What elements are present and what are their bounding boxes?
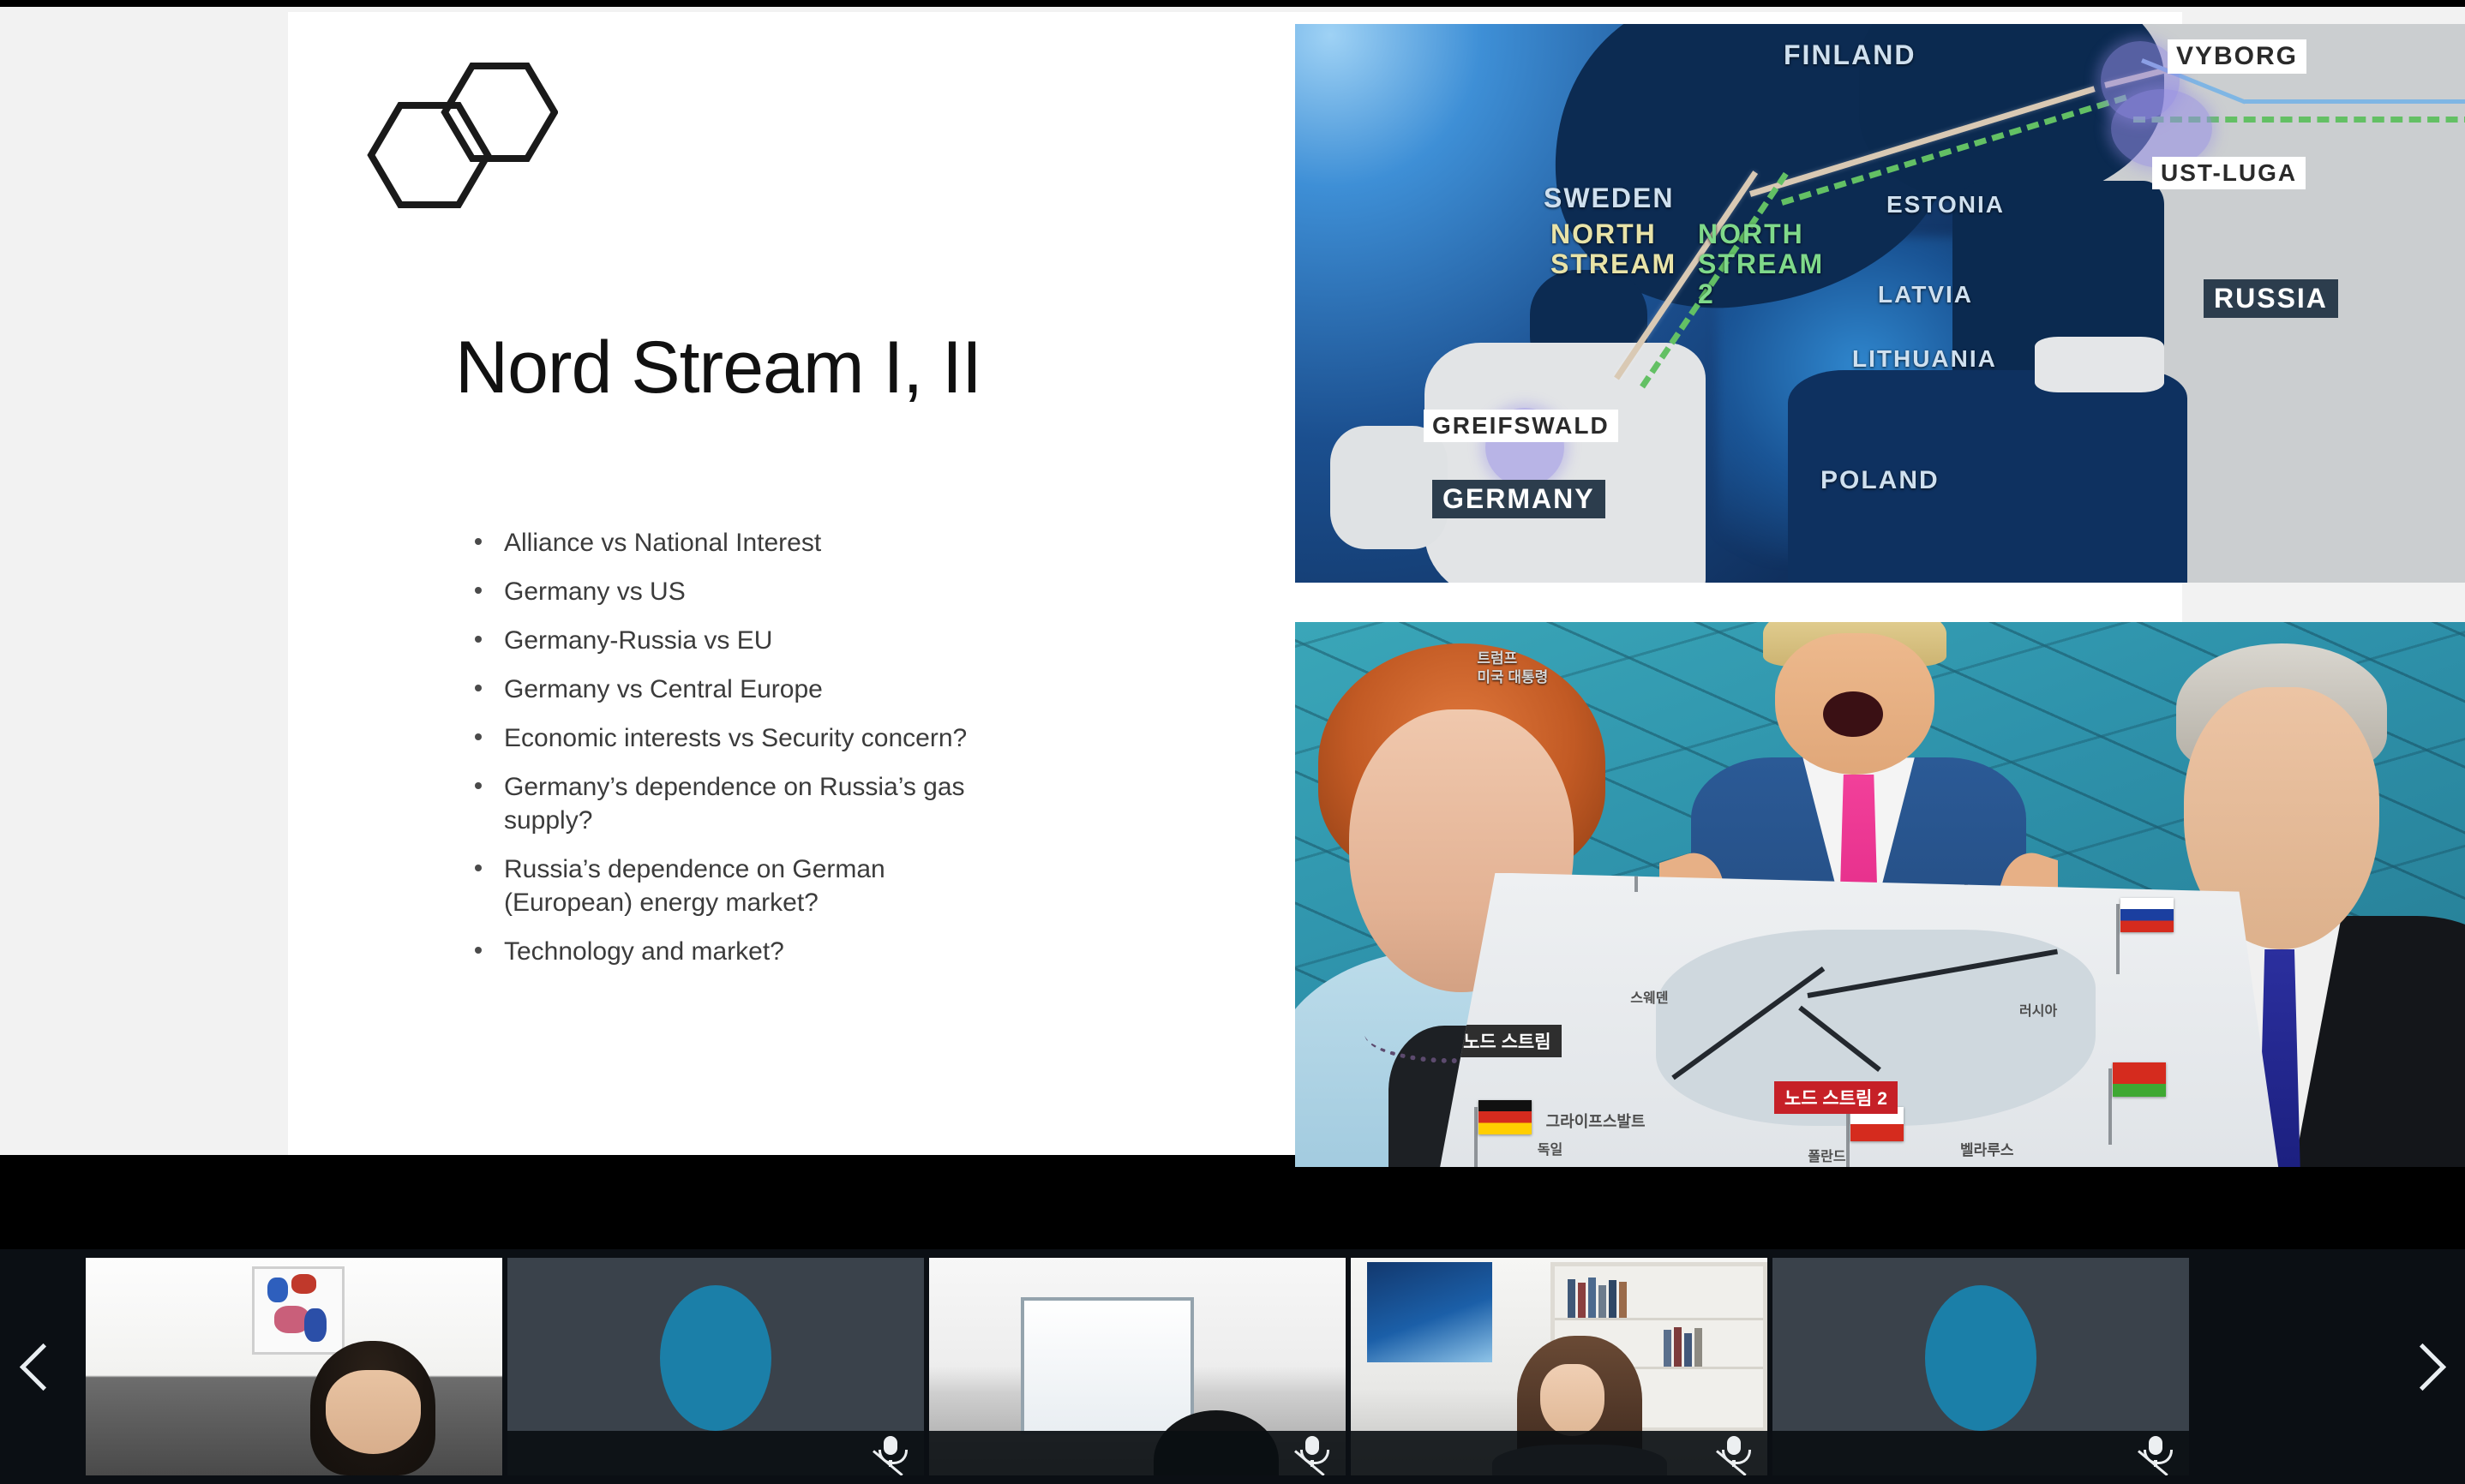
filmstrip-next-button[interactable] bbox=[2379, 1249, 2465, 1484]
map-label-finland: FINLAND bbox=[1784, 39, 1916, 71]
map-label-north-stream: NORTH STREAM bbox=[1550, 219, 1670, 279]
list-item: Technology and market? bbox=[459, 935, 1008, 968]
avatar bbox=[1925, 1285, 2036, 1431]
tile-bottom-bar-5 bbox=[1772, 1431, 2189, 1475]
board-label-poland: 폴란드 bbox=[1808, 1145, 1845, 1165]
participant-head-1 bbox=[310, 1341, 435, 1475]
filmstrip-prev-button[interactable] bbox=[0, 1249, 86, 1484]
map-land-netherlands bbox=[1330, 426, 1448, 548]
map-label-estonia: ESTONIA bbox=[1886, 191, 2005, 218]
mic-muted-icon-4 bbox=[1719, 1434, 1748, 1469]
list-item: Germany’s dependence on Russia’s gas sup… bbox=[459, 770, 1008, 837]
board-flagpole-poland bbox=[1846, 1113, 1850, 1167]
map-land-germany bbox=[1424, 343, 1706, 583]
tile-bottom-bar-2 bbox=[507, 1431, 924, 1475]
board-label-belarus: 벨라루스 bbox=[1960, 1138, 2014, 1159]
participant-tile-4[interactable] bbox=[1351, 1258, 1767, 1475]
map-label-sweden: SWEDEN bbox=[1544, 183, 1674, 214]
room-window bbox=[1021, 1297, 1194, 1434]
list-item: Russia’s dependence on German (European)… bbox=[459, 853, 1008, 919]
participant-tile-2[interactable] bbox=[507, 1258, 924, 1475]
mic-muted-icon-3 bbox=[1298, 1434, 1327, 1469]
flag-belarus bbox=[2113, 1062, 2166, 1097]
board-label-greifswald: 그라이프스발트 bbox=[1546, 1110, 1646, 1132]
list-item: Germany vs Central Europe bbox=[459, 673, 1008, 706]
mic-muted-icon-5 bbox=[2141, 1434, 2170, 1469]
map-label-poland: POLAND bbox=[1820, 466, 1940, 495]
map-label-north-stream-2: NORTH STREAM 2 bbox=[1698, 219, 1844, 310]
map-label-germany: GERMANY bbox=[1432, 480, 1605, 518]
flag-russia bbox=[2120, 898, 2174, 932]
participant-tile-5[interactable] bbox=[1772, 1258, 2189, 1475]
board-flagpole-belarus bbox=[2108, 1068, 2112, 1145]
map-label-lithuania: LITHUANIA bbox=[1852, 345, 1997, 373]
list-item: Alliance vs National Interest bbox=[459, 526, 1008, 559]
participant-tiles bbox=[86, 1249, 2379, 1484]
board-label-nord-stream-2: 노드 스트림 2 bbox=[1774, 1081, 1898, 1114]
wall-painting bbox=[252, 1266, 345, 1355]
board-label-sweden: 스웨덴 bbox=[1630, 986, 1668, 1007]
list-item: Germany vs US bbox=[459, 575, 1008, 608]
screen-share-stage: Nord Stream I, II Alliance vs National I… bbox=[0, 0, 2465, 1249]
list-item: Economic interests vs Security concern? bbox=[459, 721, 1008, 755]
map-label-vyborg: VYBORG bbox=[2168, 39, 2306, 74]
board-flagpole-germany bbox=[1474, 1107, 1478, 1168]
photo-map-board: 노드 스트림 노드 스트림 2 스웨덴 러시아 독일 그라이프스발트 폴란드 벨… bbox=[1436, 873, 2281, 1167]
board-flagpole-russia bbox=[2116, 904, 2120, 973]
mic-muted-icon-2 bbox=[876, 1434, 905, 1469]
map-land-kaliningrad bbox=[2035, 337, 2164, 392]
chevron-left-icon bbox=[19, 1343, 66, 1390]
tile-bottom-bar-3 bbox=[929, 1431, 1346, 1475]
wall-banner bbox=[1367, 1262, 1492, 1362]
participant-tile-3[interactable] bbox=[929, 1258, 1346, 1475]
participant-tile-1[interactable] bbox=[86, 1258, 502, 1475]
tile-bottom-bar-4 bbox=[1351, 1431, 1767, 1475]
flag-germany bbox=[1478, 1100, 1532, 1134]
board-label-germany: 독일 bbox=[1538, 1138, 1562, 1158]
presentation-slide[interactable]: Nord Stream I, II Alliance vs National I… bbox=[288, 12, 2182, 1155]
avatar bbox=[660, 1285, 771, 1431]
chevron-right-icon bbox=[2398, 1343, 2445, 1390]
pipeline-blue-seg2 bbox=[2245, 99, 2465, 104]
leaders-photo-image: 트럼프 미국 대통령 푸틴 러시아 대통령 AP 연합뉴스 bbox=[1295, 622, 2465, 1167]
nord-stream-map-image: FINLAND SWEDEN ESTONIA LATVIA LITHUANIA … bbox=[1295, 24, 2465, 583]
hexagon-logo-icon bbox=[361, 59, 558, 213]
map-label-russia: RUSSIA bbox=[2204, 279, 2338, 318]
participant-filmstrip bbox=[0, 1249, 2465, 1484]
page-title: Nord Stream I, II bbox=[455, 329, 987, 407]
board-label-russia: 러시아 bbox=[2019, 999, 2057, 1020]
bullet-list: Alliance vs National Interest Germany vs… bbox=[459, 526, 1008, 984]
map-label-ust-luga: UST-LUGA bbox=[2152, 157, 2306, 189]
participant-video-1 bbox=[86, 1258, 502, 1475]
board-label-nord-stream-1: 노드 스트림 bbox=[1453, 1025, 1561, 1057]
list-item: Germany-Russia vs EU bbox=[459, 624, 1008, 657]
photo-caption-trump: 트럼프 미국 대통령 bbox=[1477, 649, 1548, 687]
map-label-latvia: LATVIA bbox=[1878, 281, 1973, 308]
map-label-greifswald: GREIFSWALD bbox=[1424, 410, 1618, 442]
